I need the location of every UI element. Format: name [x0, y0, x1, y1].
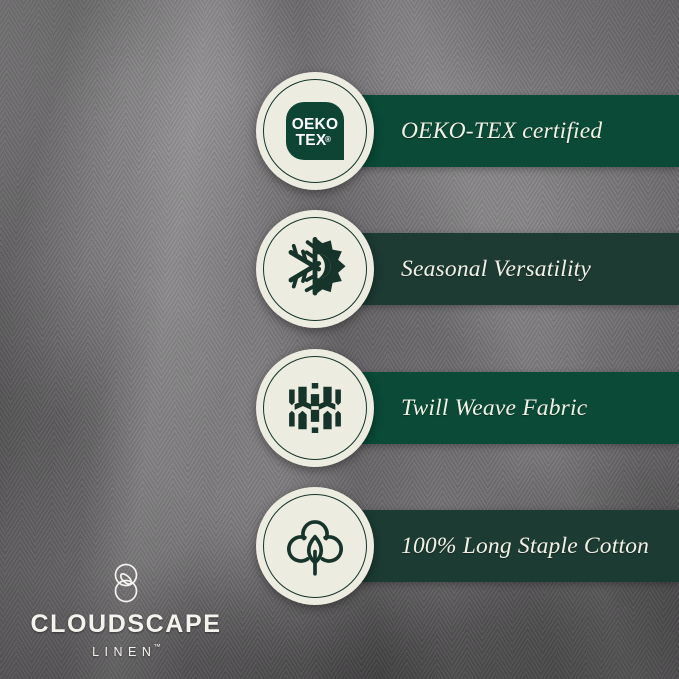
woven-fabric-icon: [278, 371, 352, 445]
feature-badge: [256, 487, 374, 605]
feature-banner: Twill Weave Fabric: [360, 372, 679, 444]
feature-row-oeko-tex: OEKO-TEX certified OEKO TEX ®: [0, 72, 679, 190]
svg-text:TEX: TEX: [296, 132, 327, 149]
cloudscape-loop-logo-icon: [26, 560, 226, 606]
feature-badge: OEKO TEX ®: [256, 72, 374, 190]
trademark-symbol: ™: [153, 642, 161, 651]
brand-logo: CLOUDSCAPE LINEN™: [26, 560, 226, 661]
feature-banner: Seasonal Versatility: [360, 233, 679, 305]
svg-text:®: ®: [325, 135, 331, 144]
feature-label: Twill Weave Fabric: [401, 395, 587, 422]
feature-badge: [256, 210, 374, 328]
feature-banner: 100% Long Staple Cotton: [360, 510, 679, 582]
feature-badge: [256, 349, 374, 467]
svg-text:OEKO: OEKO: [292, 116, 338, 133]
brand-subtitle: LINEN™: [88, 645, 164, 659]
snowflake-sun-icon: [278, 232, 352, 306]
oeko-tex-badge-icon: OEKO TEX ®: [278, 94, 352, 168]
feature-label: 100% Long Staple Cotton: [401, 533, 649, 560]
brand-name: CLOUDSCAPE: [26, 612, 226, 637]
cotton-boll-icon: [278, 509, 352, 583]
feature-row-seasonal-versatility: Seasonal Versatility: [0, 210, 679, 328]
feature-banner: OEKO-TEX certified: [360, 95, 679, 167]
feature-row-twill-weave: Twill Weave Fabric: [0, 349, 679, 467]
feature-label: OEKO-TEX certified: [401, 118, 602, 145]
product-feature-image: OEKO-TEX certified OEKO TEX ® Sea: [0, 0, 679, 679]
brand-subtitle-text: LINEN: [92, 645, 156, 659]
feature-label: Seasonal Versatility: [401, 256, 591, 283]
